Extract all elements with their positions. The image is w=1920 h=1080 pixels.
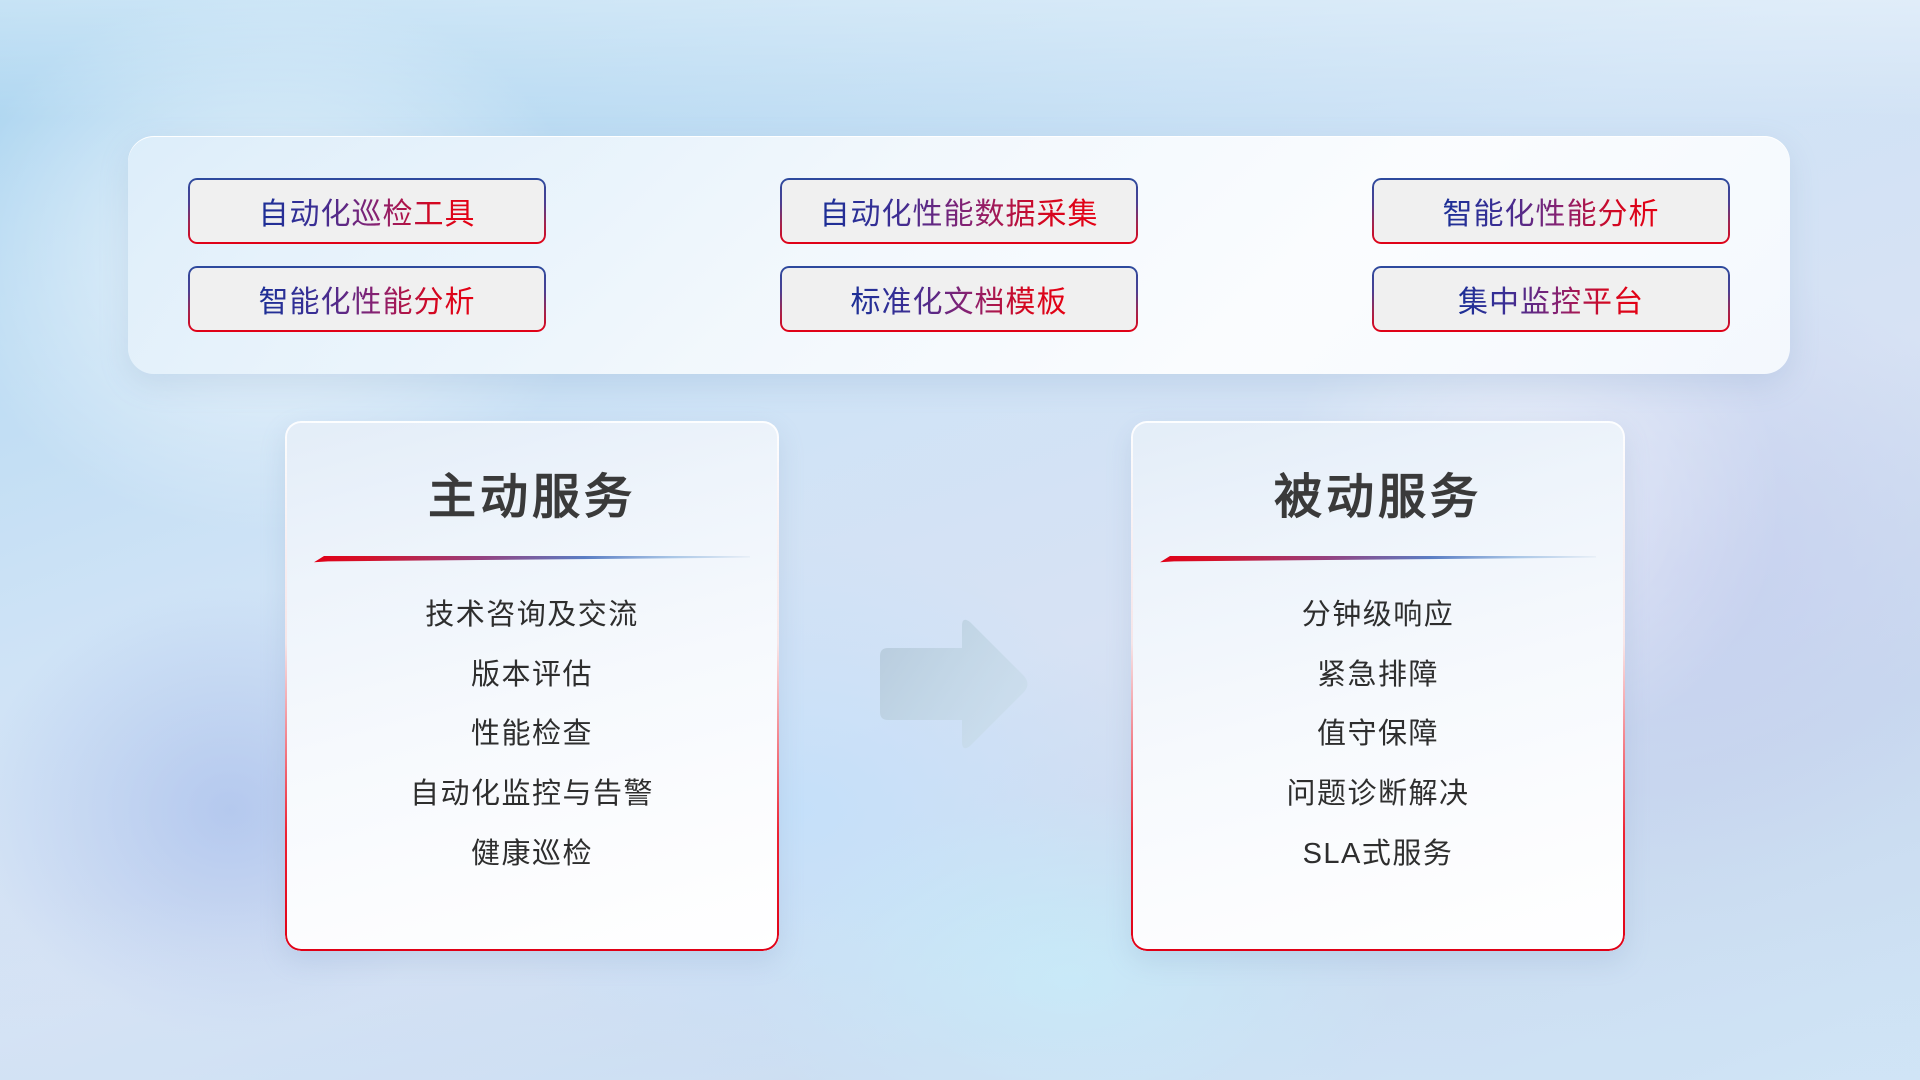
card-title: 被动服务 [1131,457,1625,527]
tag-automation-performance-data-collection[interactable]: 自动化性能数据采集 [780,178,1138,244]
tag-label: 智能化性能分析 [1443,189,1660,233]
list-item: 自动化监控与告警 [410,776,654,814]
tag-label: 集中监控平台 [1458,277,1644,321]
list-item: 问题诊断解决 [1286,776,1469,814]
tag-centralized-monitoring-platform[interactable]: 集中监控平台 [1372,266,1730,332]
list-item: 紧急排障 [1317,657,1439,695]
list-item: 健康巡检 [471,836,593,874]
tag-row-1: 自动化巡检工具 自动化性能数据采集 智能化性能分析 [188,178,1730,244]
card-divider [314,553,750,563]
tag-label: 标准化文档模板 [851,277,1068,321]
list-item: 性能检查 [471,716,593,754]
tag-label: 智能化性能分析 [259,277,476,321]
list-item: SLA式服务 [1303,836,1454,874]
list-item: 技术咨询及交流 [425,597,639,635]
list-item: 值守保障 [1317,716,1439,754]
card-reactive-service[interactable]: 被动服务 [1131,421,1625,951]
tag-automation-inspection-tool[interactable]: 自动化巡检工具 [188,178,546,244]
capability-tags-panel: 自动化巡检工具 自动化性能数据采集 智能化性能分析 智能化性能分析 标准化文档模… [128,136,1790,374]
tag-standardized-document-template[interactable]: 标准化文档模板 [780,266,1138,332]
tag-label: 自动化性能数据采集 [820,189,1099,233]
background-sheen-top [0,0,1920,120]
card-item-list: 分钟级响应 紧急排障 值守保障 问题诊断解决 SLA式服务 [1131,597,1625,873]
slide-canvas: 自动化巡检工具 自动化性能数据采集 智能化性能分析 智能化性能分析 标准化文档模… [0,0,1920,1080]
list-item: 分钟级响应 [1302,597,1455,635]
right-arrow-icon [872,614,1032,754]
tag-intelligent-performance-analysis-2[interactable]: 智能化性能分析 [188,266,546,332]
card-proactive-service[interactable]: 主动服务 [285,421,779,951]
tag-row-2: 智能化性能分析 标准化文档模板 集中监控平台 [188,266,1730,332]
card-title: 主动服务 [285,457,779,527]
tag-intelligent-performance-analysis-1[interactable]: 智能化性能分析 [1372,178,1730,244]
tag-label: 自动化巡检工具 [259,189,476,233]
card-divider [1160,553,1596,563]
card-item-list: 技术咨询及交流 版本评估 性能检查 自动化监控与告警 健康巡检 [285,597,779,873]
list-item: 版本评估 [471,657,593,695]
